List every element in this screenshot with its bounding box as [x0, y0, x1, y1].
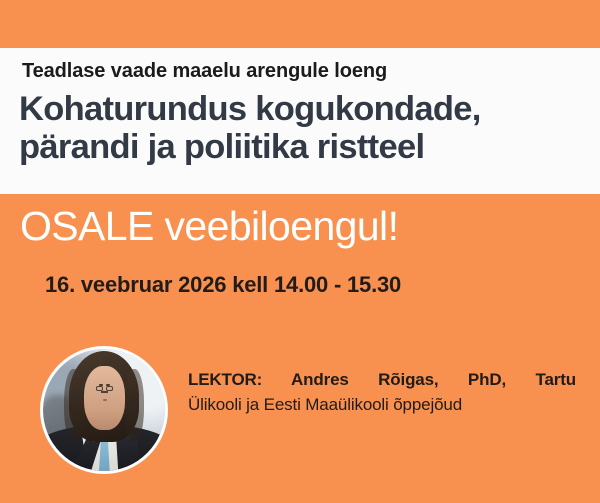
- photo-mouth: [103, 399, 107, 401]
- avatar: [40, 346, 168, 474]
- page-title: Kohaturundus kogukondade, pärandi ja pol…: [19, 90, 589, 166]
- page-title-line-2: pärandi ja poliitika ristteel: [19, 128, 589, 166]
- poster-kicker: Teadlase vaade maaelu arengule loeng: [22, 60, 387, 83]
- cta-heading: OSALE veebiloengul!: [20, 203, 398, 250]
- event-datetime: 16. veebruar 2026 kell 14.00 - 15.30: [45, 272, 401, 298]
- photo-hair-right: [124, 369, 145, 442]
- photo-hair-left: [64, 369, 85, 442]
- headline-band: Teadlase vaade maaelu arengule loeng Koh…: [0, 48, 600, 194]
- page-title-line-1: Kohaturundus kogukondade,: [19, 90, 589, 128]
- portrait-photo-andres-roigas: [43, 349, 165, 471]
- lecturer-info: LEKTOR: Andres Rõigas, PhD, Tartu Ülikoo…: [188, 367, 576, 417]
- photo-face: [84, 366, 124, 429]
- event-poster: Teadlase vaade maaelu arengule loeng Koh…: [0, 0, 600, 503]
- photo-glasses-bridge: [101, 391, 107, 392]
- lecturer-name-line: LEKTOR: Andres Rõigas, PhD, Tartu: [188, 367, 576, 392]
- lecturer-affiliation-line: Ülikooli ja Eesti Maaülikooli õppejõud: [188, 392, 576, 417]
